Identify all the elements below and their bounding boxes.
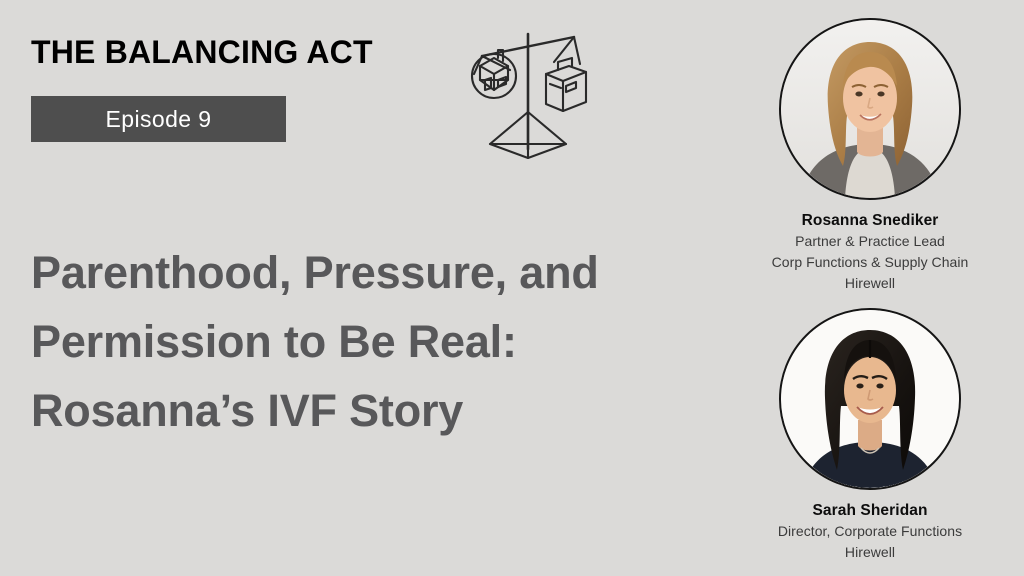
balance-scale-svg [466, 18, 590, 163]
speaker-company-line: Hirewell [716, 542, 1024, 563]
speaker-role-line: Director, Corporate Functions [716, 521, 1024, 542]
avatar [779, 18, 961, 200]
headshot-illustration [781, 20, 959, 198]
headshot-illustration [781, 310, 959, 488]
podcast-episode-graphic: THE BALANCING ACT Episode 9 [0, 0, 1024, 576]
speaker-practice-line: Corp Functions & Supply Chain [716, 252, 1024, 273]
speaker-card-rosanna-snediker: Rosanna Snediker Partner & Practice Lead… [716, 18, 1024, 294]
rosanna-snediker-headshot [781, 20, 959, 198]
avatar [779, 308, 961, 490]
speaker-name: Sarah Sheridan [716, 501, 1024, 521]
speaker-company-line: Hirewell [716, 273, 1024, 294]
speaker-card-sarah-sheridan: Sarah Sheridan Director, Corporate Funct… [716, 308, 1024, 563]
episode-badge: Episode 9 [31, 96, 286, 142]
show-title: THE BALANCING ACT [31, 36, 373, 68]
sarah-sheridan-headshot [781, 310, 959, 488]
episode-title: Parenthood, Pressure, and Permission to … [31, 238, 751, 445]
balance-scale-icon [466, 18, 590, 163]
speaker-role-line: Partner & Practice Lead [716, 231, 1024, 252]
episode-badge-label: Episode 9 [106, 108, 212, 131]
speaker-name: Rosanna Snediker [716, 211, 1024, 231]
speaker-list: Rosanna Snediker Partner & Practice Lead… [716, 0, 1024, 576]
